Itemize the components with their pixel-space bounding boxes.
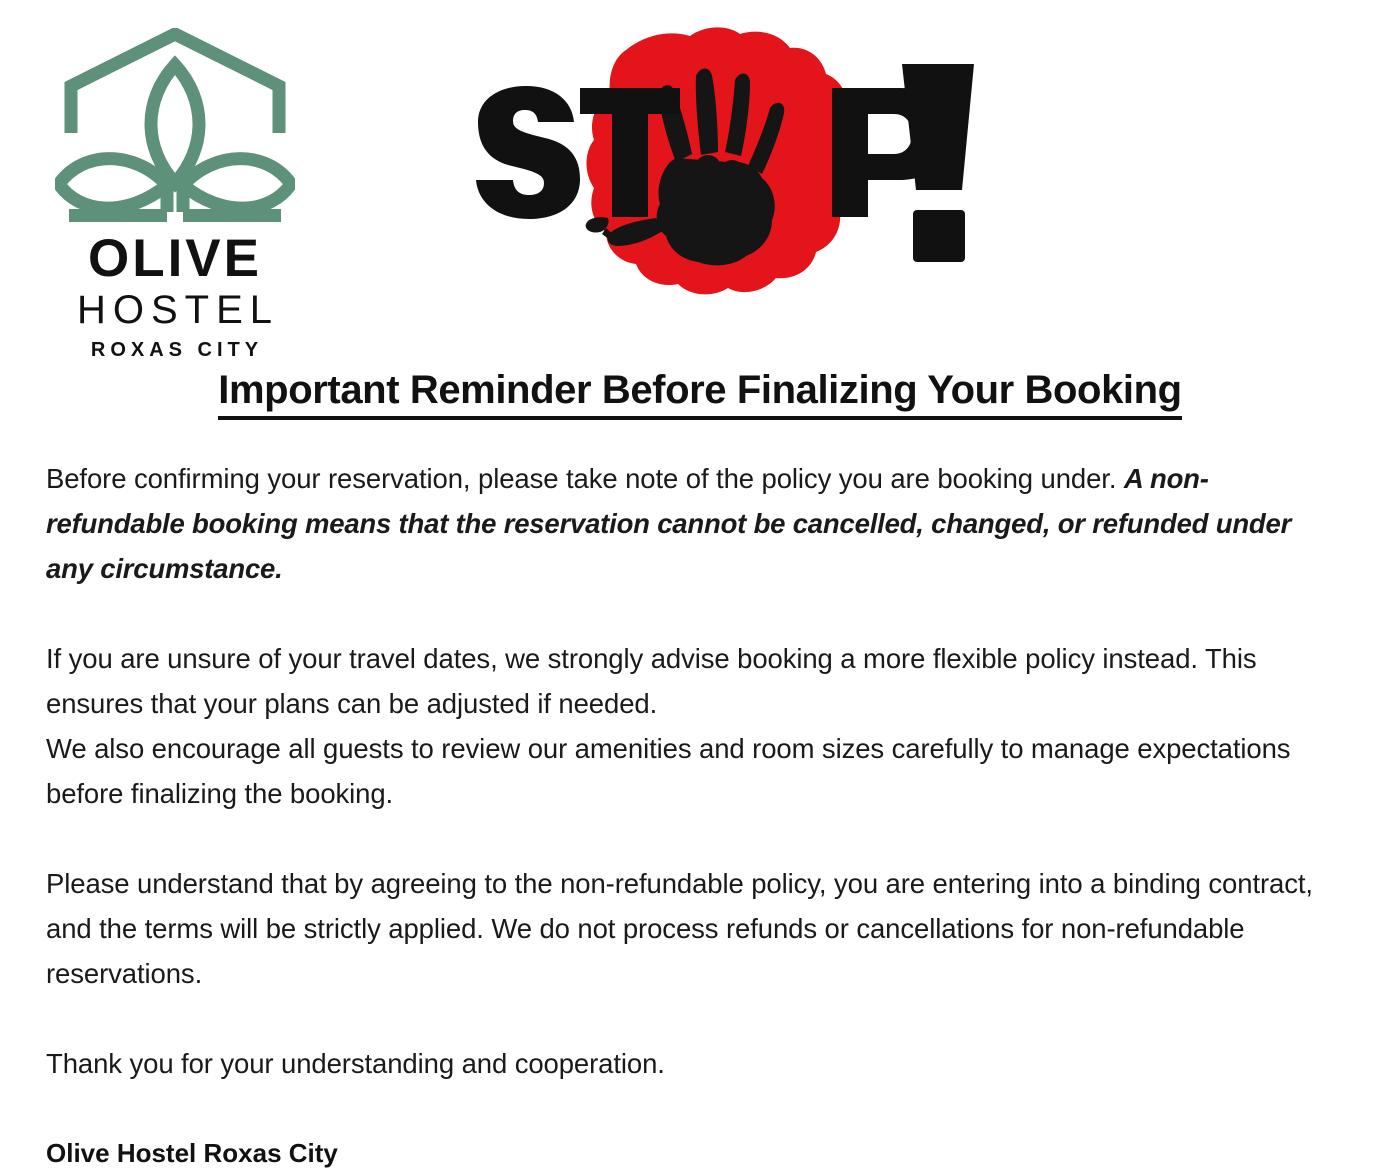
stop-handprint-icon — [408, 22, 988, 312]
olive-leaf-house-icon — [55, 28, 295, 228]
paragraph-flexible-policy: If you are unsure of your travel dates, … — [46, 636, 1334, 726]
signature-line: Olive Hostel Roxas City — [46, 1131, 1334, 1176]
brand-wordmark: OLIVE HOSTEL ROXAS CITY — [55, 232, 295, 365]
brand-city: ROXAS CITY — [55, 335, 295, 365]
document-body: Before confirming your reservation, plea… — [46, 456, 1334, 1176]
paragraph-binding-contract: Please understand that by agreeing to th… — [46, 861, 1334, 996]
paragraph-policy-notice: Before confirming your reservation, plea… — [46, 456, 1334, 591]
paragraph-amenities-review: We also encourage all guests to review o… — [46, 726, 1334, 816]
brand-logo: OLIVE HOSTEL ROXAS CITY — [55, 28, 305, 348]
stop-graphic-svg — [408, 22, 988, 312]
header-band: OLIVE HOSTEL ROXAS CITY — [0, 0, 1400, 360]
page-title-text: Important Reminder Before Finalizing You… — [218, 368, 1181, 420]
page-title: Important Reminder Before Finalizing You… — [0, 368, 1400, 420]
brand-name: OLIVE — [55, 232, 295, 285]
paragraph-thank-you: Thank you for your understanding and coo… — [46, 1041, 1334, 1086]
paragraph-lead-text: Before confirming your reservation, plea… — [46, 463, 1124, 494]
brand-type: HOSTEL — [55, 285, 295, 335]
